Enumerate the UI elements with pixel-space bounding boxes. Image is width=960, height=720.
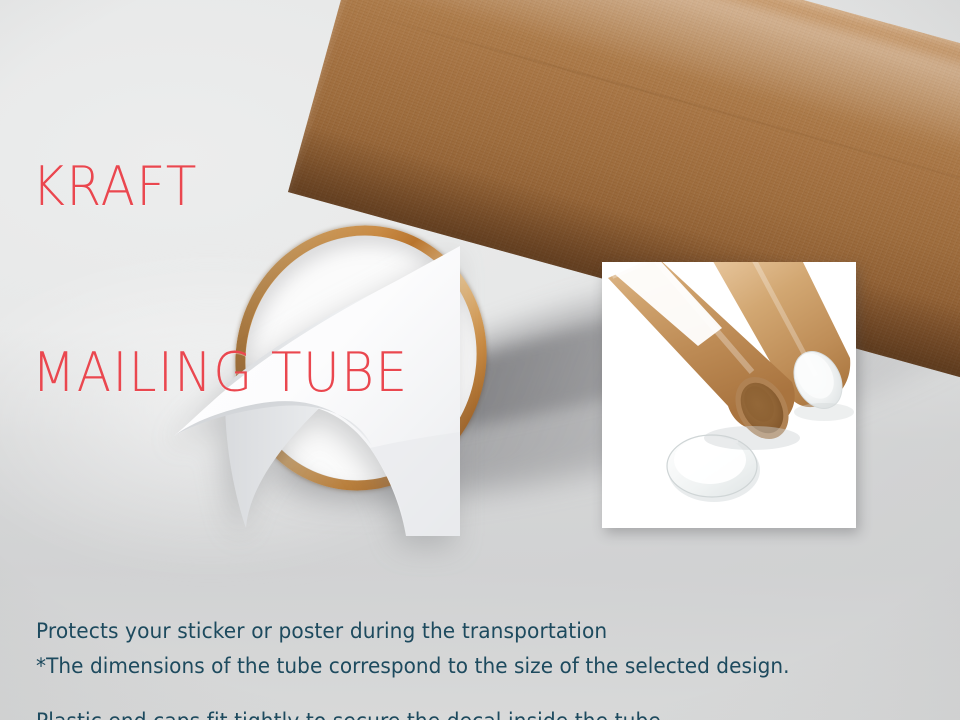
benefit-line-1: Protects your sticker or poster during t… xyxy=(36,616,661,646)
title-line-2: MAILING TUBE xyxy=(32,342,409,404)
slide-canvas: KRAFT MAILING TUBE Protects your sticker… xyxy=(0,0,960,720)
footnote-text: *The dimensions of the tube correspond t… xyxy=(36,652,790,680)
title-line-1: KRAFT xyxy=(32,156,409,218)
page-title: KRAFT MAILING TUBE xyxy=(32,32,409,528)
benefits-text: Protects your sticker or poster during t… xyxy=(36,556,661,720)
benefit-line-2: Plastic end caps fit tightly to secure t… xyxy=(36,706,661,720)
